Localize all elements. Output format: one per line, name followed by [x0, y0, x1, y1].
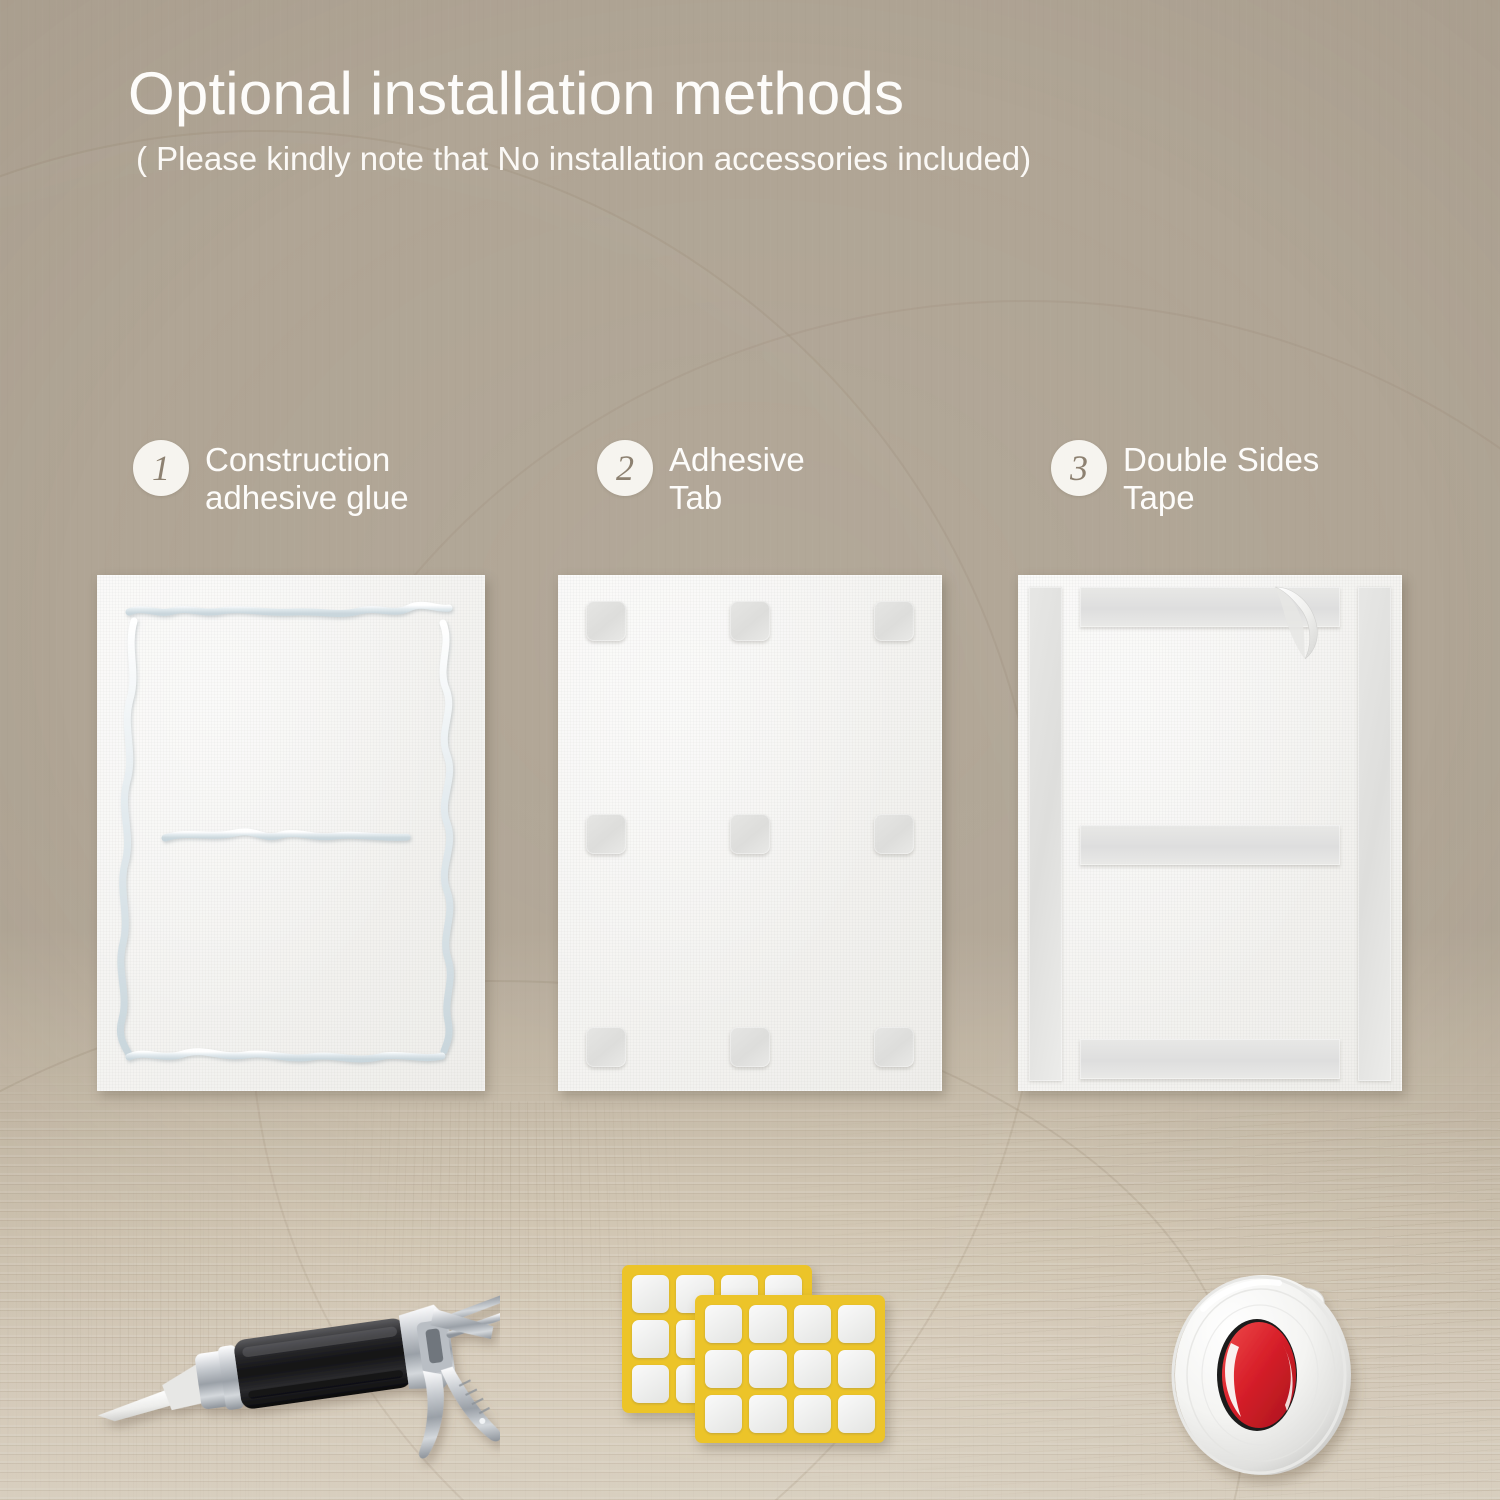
glue-bead-illustration [97, 575, 485, 1091]
adhesive-tab-square [874, 814, 914, 854]
sheet-tab-square [632, 1320, 669, 1358]
step-label-2: 2 Adhesive Tab [597, 440, 805, 518]
sheet-tab-square [838, 1395, 875, 1433]
sheet-tab-square [705, 1305, 742, 1343]
infographic-root: Optional installation methods ( Please k… [0, 0, 1500, 1500]
adhesive-tab-square [730, 814, 770, 854]
panel-double-sided-tape-method [1018, 575, 1402, 1091]
tape-strip-vertical-left [1029, 587, 1062, 1081]
adhesive-tab-sheet-front [695, 1295, 885, 1443]
adhesive-tab-square [586, 1027, 626, 1067]
adhesive-tab-square [730, 1027, 770, 1067]
sheet-tab-square [705, 1395, 742, 1433]
sheet-tab-square [794, 1395, 831, 1433]
tape-strip-vertical-right [1358, 587, 1391, 1081]
panel-adhesive-tab-method [558, 575, 942, 1091]
adhesive-tab-square [874, 601, 914, 641]
sheet-tab-square [749, 1395, 786, 1433]
step-number-badge-1: 1 [133, 440, 189, 496]
adhesive-tab-square [730, 601, 770, 641]
sheet-tab-square [632, 1275, 669, 1313]
adhesive-tab-square [586, 814, 626, 854]
sheet-tab-square [794, 1350, 831, 1388]
adhesive-tab-grid [586, 601, 914, 1067]
tape-strip-horizontal-bottom [1080, 1039, 1340, 1079]
sheet-tab-square [794, 1305, 831, 1343]
header: Optional installation methods ( Please k… [128, 62, 1408, 177]
adhesive-tab-square [874, 1027, 914, 1067]
tape-strip-horizontal-middle [1080, 825, 1340, 865]
sheet-tab-square [838, 1350, 875, 1388]
sheet-tab-square [705, 1350, 742, 1388]
page-subtitle: ( Please kindly note that No installatio… [136, 141, 1408, 177]
step-label-1: 1 Construction adhesive glue [133, 440, 409, 518]
panel-glue-method [97, 575, 485, 1091]
page-title: Optional installation methods [128, 62, 1408, 125]
adhesive-tab-sheets-photo [600, 1255, 930, 1465]
adhesive-tab-square [586, 601, 626, 641]
tape-roll-icon [1155, 1255, 1455, 1500]
double-sided-tape-roll-photo [1155, 1255, 1455, 1500]
caulk-gun-photo [70, 1250, 500, 1500]
tape-strip-horizontal-top [1080, 587, 1340, 627]
sheet-tab-square [749, 1350, 786, 1388]
step-number-badge-3: 3 [1051, 440, 1107, 496]
step-title-3: Double Sides Tape [1123, 440, 1319, 518]
step-title-2: Adhesive Tab [669, 440, 805, 518]
sheet-tab-square [838, 1305, 875, 1343]
sheet-tab-square [749, 1305, 786, 1343]
step-number-badge-2: 2 [597, 440, 653, 496]
sheet-tab-square [632, 1365, 669, 1403]
caulk-gun-icon [70, 1250, 500, 1500]
step-label-3: 3 Double Sides Tape [1051, 440, 1319, 518]
step-title-1: Construction adhesive glue [205, 440, 409, 518]
